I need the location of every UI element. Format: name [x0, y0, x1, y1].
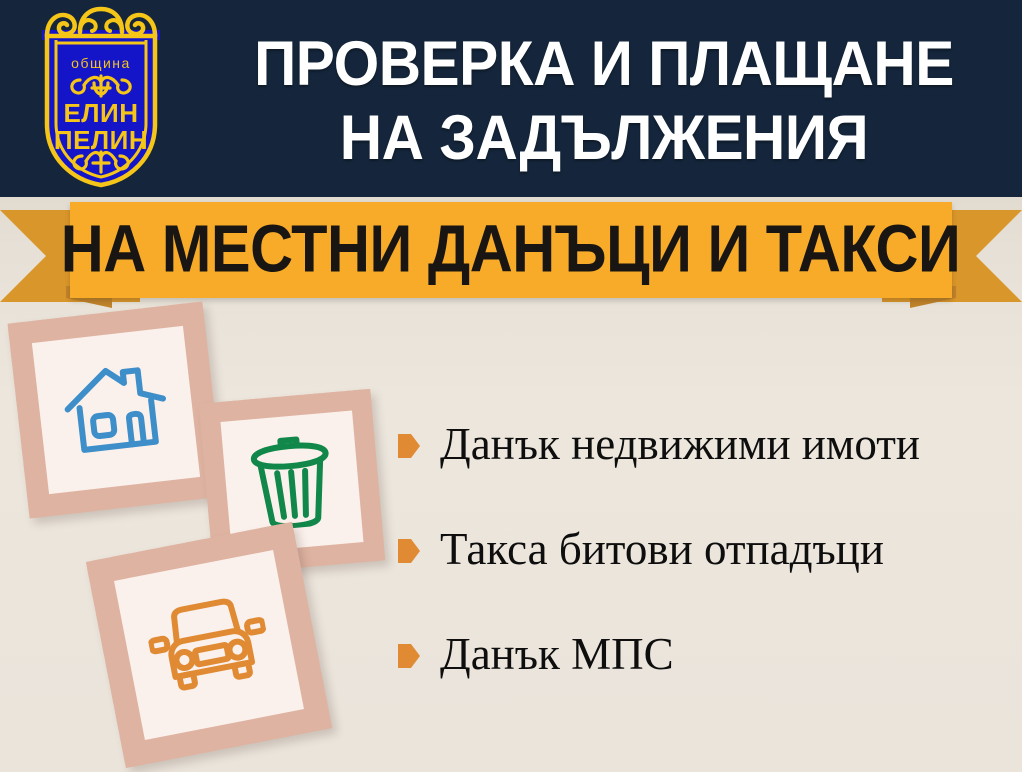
page-title: ПРОВЕРКА И ПЛАЩАНЕ НА ЗАДЪЛЖЕНИЯ: [215, 16, 992, 186]
municipality-logo: община ЕЛИН ПЕЛИН: [20, 6, 182, 190]
arrow-bullet-icon: [398, 434, 420, 458]
list-item[interactable]: Данък МПС: [398, 628, 1018, 680]
car-icon: [86, 522, 332, 768]
list-item-label: Данък недвижими имоти: [440, 419, 920, 469]
ribbon-banner: НА МЕСТНИ ДАНЪЦИ И ТАКСИ: [0, 196, 1022, 308]
list-item[interactable]: Такса битови отпадъци: [398, 523, 1018, 575]
list-item-label: Такса битови отпадъци: [440, 524, 884, 574]
list-item[interactable]: Данък недвижими имоти: [398, 418, 1018, 470]
logo-text-elin: ЕЛИН: [63, 98, 138, 128]
logo-text-obshtina: община: [71, 55, 131, 71]
ribbon-main-panel: НА МЕСТНИ ДАНЪЦИ И ТАКСИ: [70, 202, 952, 298]
arrow-bullet-icon: [398, 644, 420, 668]
tax-type-list: Данък недвижими имоти Такса битови отпад…: [398, 418, 1018, 680]
page-title-line-2: НА ЗАДЪЛЖЕНИЯ: [340, 101, 868, 175]
ribbon-label: НА МЕСТНИ ДАНЪЦИ И ТАКСИ: [61, 217, 961, 284]
stamp-card-car: [86, 522, 332, 768]
list-item-label: Данък МПС: [440, 629, 674, 679]
arrow-bullet-icon: [398, 539, 420, 563]
stamp-card-house: [8, 302, 225, 519]
house-icon: [8, 302, 225, 519]
poster-root: ПРОВЕРКА И ПЛАЩАНЕ НА ЗАДЪЛЖЕНИЯ: [0, 0, 1022, 772]
logo-text-pelin: ПЕЛИН: [54, 125, 148, 155]
coat-of-arms-icon: община ЕЛИН ПЕЛИН: [20, 6, 182, 190]
page-title-line-1: ПРОВЕРКА И ПЛАЩАНЕ: [254, 27, 954, 101]
